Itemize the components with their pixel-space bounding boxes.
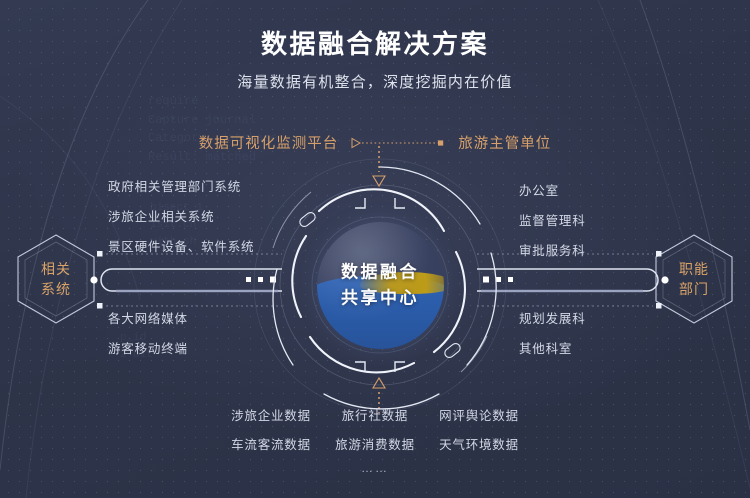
hexagon-right-label: 职能 部门 <box>679 259 709 300</box>
right-bottom-item-list: 规划发展科 其他科室 <box>519 308 586 368</box>
hex-right-line1: 职能 <box>679 259 709 279</box>
list-item: 其他科室 <box>519 338 586 357</box>
ellipsis-more: …… <box>361 461 389 475</box>
hex-right-line2: 部门 <box>679 279 709 299</box>
page-title: 数据融合解决方案 <box>0 24 750 61</box>
hex-left-line2: 系统 <box>41 279 71 299</box>
infographic-canvas: require Capture journal Category: databa… <box>0 0 750 498</box>
list-item: 监督管理科 <box>519 210 586 229</box>
data-row-2: 车流客流数据 旅游消费数据 天气环境数据 <box>219 434 531 453</box>
globe-highlight <box>317 222 444 349</box>
hex-left-line1: 相关 <box>41 259 71 279</box>
data-cell: 旅游消费数据 <box>323 434 427 453</box>
list-item: 涉旅企业相关系统 <box>108 206 254 225</box>
list-item: 办公室 <box>519 180 586 199</box>
tourism-authority-label: 旅游主管单位 <box>458 132 551 153</box>
data-cell: 天气环境数据 <box>427 434 531 453</box>
hexagon-related-systems[interactable]: 相关 系统 <box>14 232 98 326</box>
list-item: 政府相关管理部门系统 <box>108 176 254 195</box>
list-item: 各大网络媒体 <box>108 308 188 327</box>
bottom-data-grid: 涉旅企业数据 旅行社数据 网评舆论数据 车流客流数据 旅游消费数据 天气环境数据… <box>0 405 750 475</box>
hexagon-left-label: 相关 系统 <box>41 259 71 300</box>
data-fusion-globe <box>317 222 444 349</box>
page-subtitle: 海量数据有机整合，深度挖掘内在价值 <box>0 71 750 92</box>
list-item: 景区硬件设备、软件系统 <box>108 236 254 255</box>
right-top-item-list: 办公室 监督管理科 审批服务科 <box>519 180 586 270</box>
list-item: 游客移动终端 <box>108 338 188 357</box>
list-item: 规划发展科 <box>519 308 586 327</box>
list-item: 审批服务科 <box>519 240 586 259</box>
hexagon-functional-departments[interactable]: 职能 部门 <box>652 232 736 326</box>
central-hub: 数据融合 共享中心 <box>251 156 509 414</box>
left-bottom-item-list: 各大网络媒体 游客移动终端 <box>108 308 188 368</box>
left-top-item-list: 政府相关管理部门系统 涉旅企业相关系统 景区硬件设备、软件系统 <box>108 176 254 266</box>
visualization-platform-label: 数据可视化监测平台 <box>199 132 339 153</box>
data-cell: 车流客流数据 <box>219 434 323 453</box>
top-label-row: 数据可视化监测平台 旅游主管单位 <box>0 132 750 153</box>
dotted-left-arrow-icon <box>350 137 446 149</box>
